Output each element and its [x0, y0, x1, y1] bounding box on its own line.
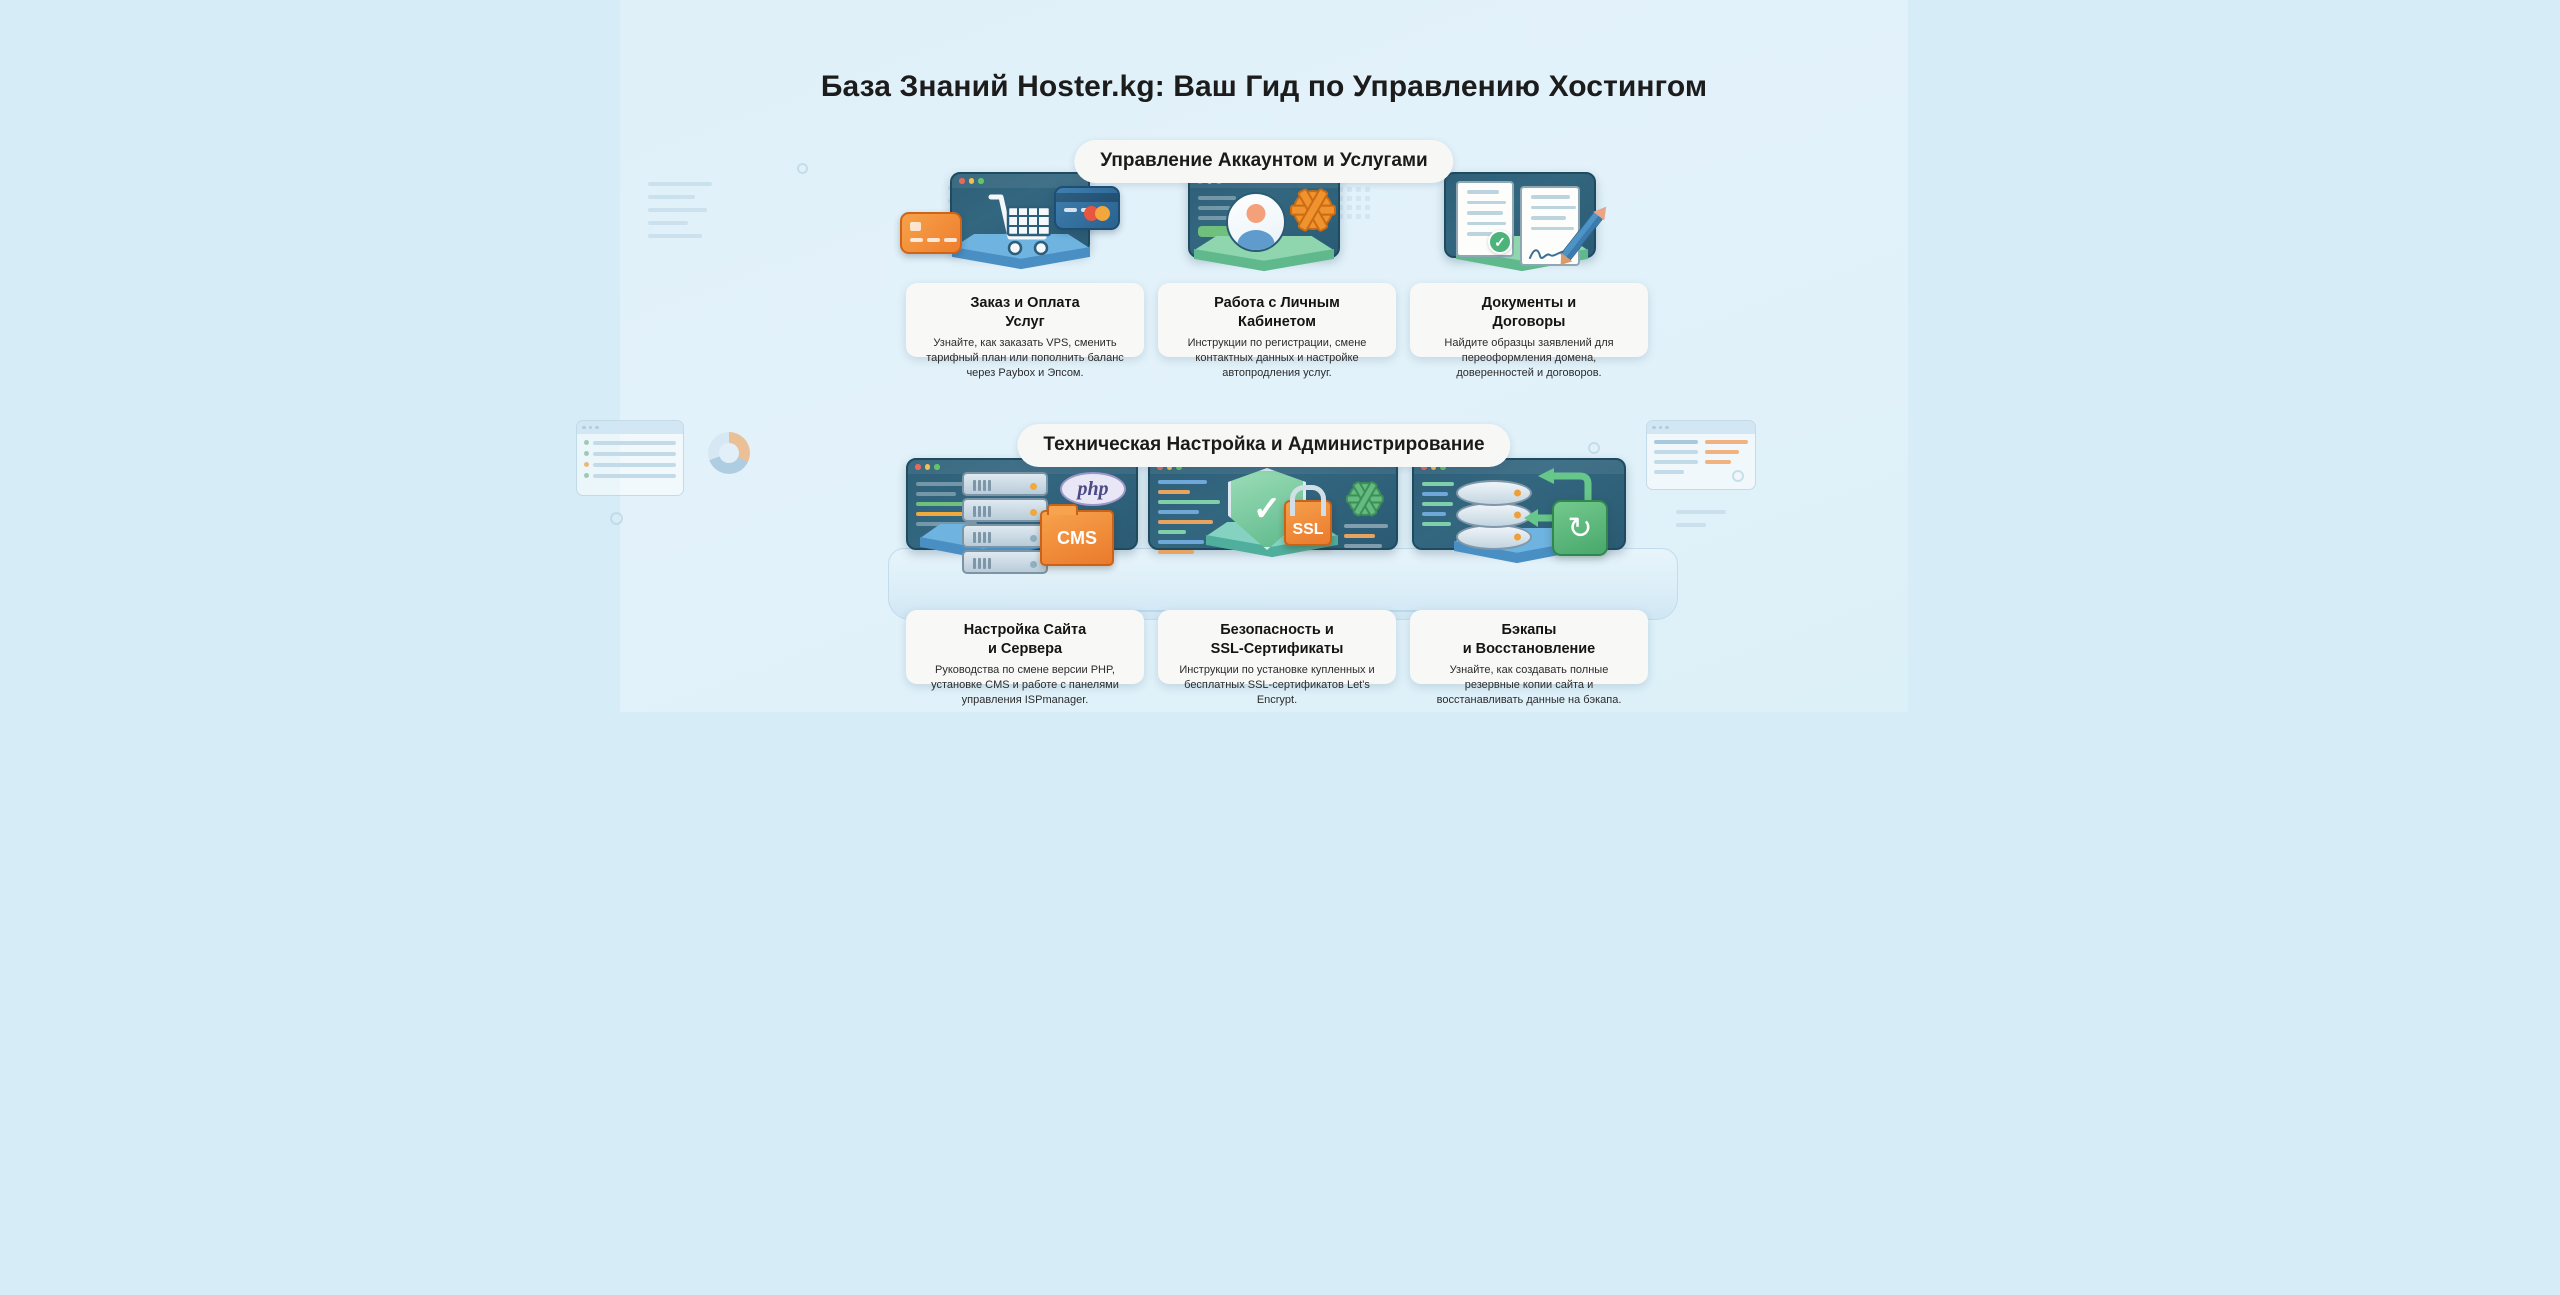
card-description: Инструкции по установке купленных и бесп…	[1170, 663, 1384, 709]
illustration-backup-restore: ↻	[1410, 458, 1660, 570]
shopping-cart-icon	[987, 190, 1055, 260]
decor-circle-row2	[610, 512, 623, 525]
gear-icon	[1348, 482, 1382, 516]
padlock-ssl-icon: SSL	[1284, 500, 1332, 546]
decor-lines-right-row2	[1676, 510, 1726, 536]
decor-browser-left	[576, 420, 684, 496]
credit-card-orange-icon	[900, 212, 962, 254]
card-backup-restore[interactable]: Бэкапы и Восстановление Узнайте, как соз…	[1410, 610, 1648, 684]
card-description: Узнайте, как создавать полные резервные …	[1422, 663, 1636, 709]
user-avatar-icon	[1226, 192, 1286, 252]
restore-clock-icon: ↻	[1552, 500, 1608, 556]
section-badge-account[interactable]: Управление Аккаунтом и Услугами	[1074, 140, 1453, 183]
card-description: Найдите образцы заявлений для переоформл…	[1422, 336, 1636, 382]
decor-lines-left-top	[648, 182, 712, 247]
card-description: Узнайте, как заказать VPS, сменить тариф…	[918, 336, 1132, 382]
card-title: Бэкапы и Восстановление	[1422, 621, 1636, 658]
card-title: Документы и Договоры	[1422, 294, 1636, 331]
cms-folder-icon: CMS	[1040, 510, 1114, 566]
infographic-panel: База Знаний Hoster.kg: Ваш Гид по Управл…	[620, 0, 1908, 712]
gear-icon	[1293, 190, 1333, 230]
arrow-back-icon-lower	[1522, 508, 1556, 528]
card-documents-contracts[interactable]: Документы и Договоры Найдите образцы зая…	[1410, 283, 1648, 357]
card-description: Руководства по смене версии PHP, установ…	[918, 663, 1132, 709]
page-title: База Знаний Hoster.kg: Ваш Гид по Управл…	[620, 70, 1908, 104]
decor-circle-right2	[1588, 442, 1600, 454]
illustration-site-server-setup: php CMS	[892, 458, 1152, 570]
section-badge-technical[interactable]: Техническая Настройка и Администрировани…	[1017, 424, 1510, 467]
database-icon	[1456, 476, 1532, 548]
server-rack-icon	[962, 550, 1048, 574]
card-personal-account[interactable]: Работа с Личным Кабинетом Инструкции по …	[1158, 283, 1396, 357]
page-root: База Знаний Hoster.kg: Ваш Гид по Управл…	[0, 0, 2560, 1295]
card-title: Настройка Сайта и Сервера	[918, 621, 1132, 658]
server-rack-icon	[962, 524, 1048, 548]
card-security-ssl[interactable]: Безопасность и SSL-Сертификаты Инструкци…	[1158, 610, 1396, 684]
card-title: Заказ и Оплата Услуг	[918, 294, 1132, 331]
decor-circle-bottom	[1732, 470, 1744, 482]
server-rack-icon	[962, 472, 1048, 496]
illustration-documents-contracts: ✓	[1410, 172, 1658, 282]
card-title: Работа с Личным Кабинетом	[1170, 294, 1384, 331]
card-title: Безопасность и SSL-Сертификаты	[1170, 621, 1384, 658]
php-logo-icon: php	[1060, 472, 1126, 506]
credit-card-blue-icon	[1054, 186, 1120, 230]
decor-donut-chart	[708, 432, 750, 474]
card-description: Инструкции по регистрации, смене контакт…	[1170, 336, 1384, 382]
panel-lines-right	[1344, 524, 1388, 554]
illustration-security-ssl: ✓ SSL	[1148, 458, 1404, 570]
card-order-payment[interactable]: Заказ и Оплата Услуг Узнайте, как заказа…	[906, 283, 1144, 357]
card-site-server-setup[interactable]: Настройка Сайта и Сервера Руководства по…	[906, 610, 1144, 684]
check-circle-icon: ✓	[1488, 230, 1512, 254]
illustration-personal-account	[1150, 172, 1398, 282]
illustration-order-payment	[892, 172, 1152, 282]
decor-circle-top	[797, 163, 808, 174]
server-rack-icon	[962, 498, 1048, 522]
